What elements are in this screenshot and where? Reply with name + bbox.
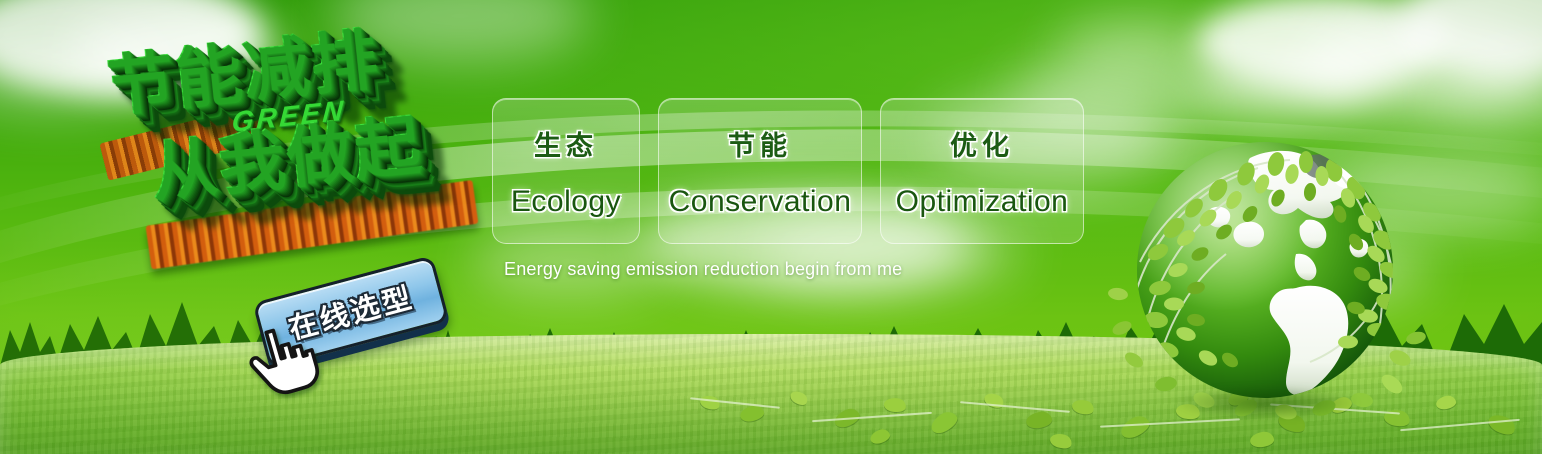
feature-card-list: 生态 Ecology 节能 Conservation 优化 Optimizati… (492, 98, 1084, 244)
card-optimization[interactable]: 优化 Optimization (880, 98, 1084, 244)
ivy-leaves (1137, 142, 1403, 398)
card-ecology-cn: 生态 (534, 124, 598, 163)
tagline: Energy saving emission reduction begin f… (504, 259, 902, 280)
globe-ground-shadow (1134, 380, 1396, 426)
card-conservation[interactable]: 节能 Conservation (658, 98, 862, 244)
headline-3d-text: 节能减排 GREEN 从我做起 (84, 14, 508, 304)
card-ecology-en: Ecology (511, 185, 621, 219)
card-conservation-cn: 节能 (728, 124, 792, 163)
hand-pointer-icon (242, 322, 322, 400)
eco-hero-banner: 节能减排 GREEN 从我做起 在线选型 生态 Ecology 节能 Conse… (0, 0, 1542, 454)
eco-globe (1100, 112, 1430, 442)
card-ecology[interactable]: 生态 Ecology (492, 98, 640, 244)
card-conservation-en: Conservation (669, 185, 852, 219)
card-optimization-cn: 优化 (950, 124, 1014, 163)
card-optimization-en: Optimization (896, 185, 1069, 219)
